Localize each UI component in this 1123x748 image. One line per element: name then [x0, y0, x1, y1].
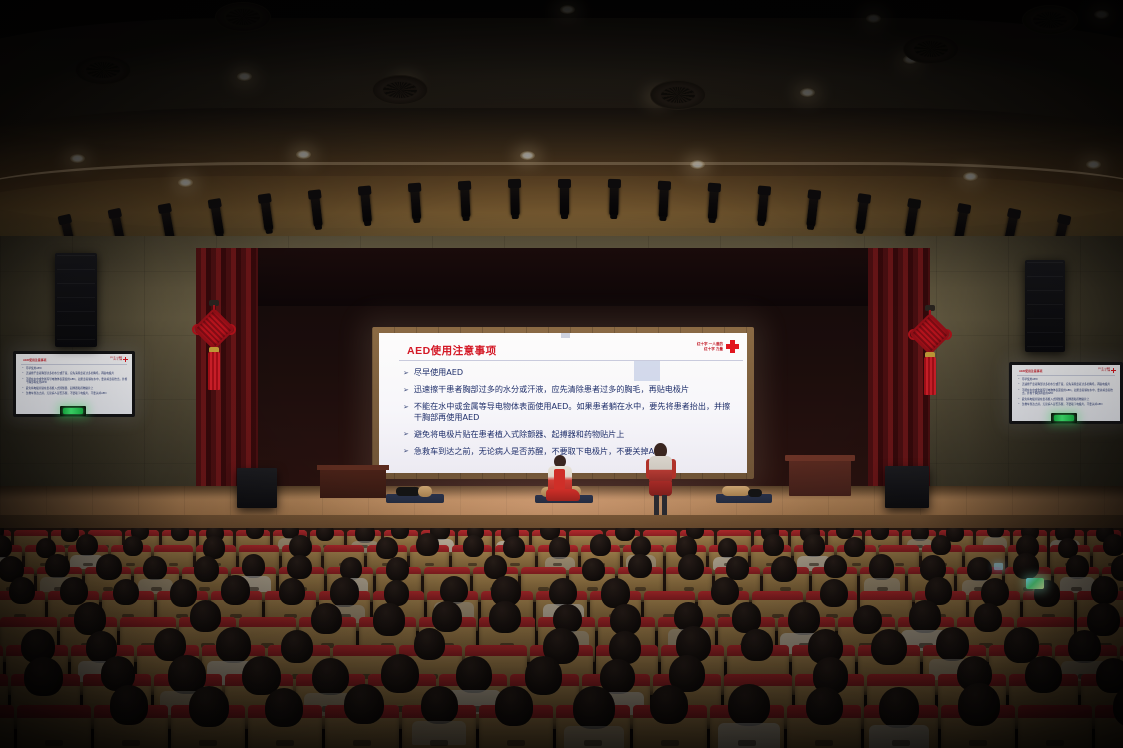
audience-member-head [711, 577, 739, 606]
audience-member-head [824, 555, 847, 578]
audience-seat [248, 705, 322, 748]
audience-member-head [344, 684, 384, 724]
monitor-bullet-marker-icon: ➢ [22, 387, 24, 390]
audience-member-head [355, 528, 374, 543]
knot-tassel [208, 352, 220, 390]
audience-member-head [489, 601, 520, 633]
audience-seat [710, 705, 784, 748]
right-monitor-rule [1017, 375, 1115, 376]
presenter-standing-skirt [649, 481, 672, 496]
audience-seat [787, 705, 861, 748]
monitor-bullet-marker-icon: ➢ [1018, 383, 1020, 386]
audience-member-head [1096, 658, 1123, 693]
left-monitor-logo: 红十字 一人道的 红十字 力量 [110, 357, 128, 362]
cpr-manikin-left-body [396, 487, 420, 496]
monitor-bullet-1: ➢尽早使用AED [22, 367, 128, 370]
auditorium-photo: AED使用注意事项 红十字 一人道的 红十字 力量 ➢尽早使用AED➢迅速擦干患… [0, 0, 1123, 748]
audience-member-head [820, 579, 847, 607]
audience-member-head [340, 557, 363, 580]
slide-notch [561, 333, 570, 338]
audience-member-head [788, 602, 821, 635]
monitor-bullet-marker-icon: ➢ [22, 372, 24, 375]
audience-member-head [1025, 656, 1062, 693]
bullet-marker-icon: ➢ [403, 446, 409, 457]
slide-bullet-1: ➢尽早使用AED [403, 367, 735, 379]
audience-member-head [590, 534, 612, 556]
audience-member-head [110, 685, 149, 725]
audience-member-head [628, 554, 652, 578]
audience-phone-screen [1026, 578, 1044, 589]
audience-member-head [936, 627, 970, 661]
audience-seat [0, 705, 14, 748]
monitor-bullet-text: 迅速擦干患者胸部过多的水分或汗液，应先清除患者过多的胸毛，再贴电极片 [26, 372, 114, 375]
audience-member-head [373, 603, 405, 635]
left-monitor-logo-text: 红十字 一人道的 红十字 力量 [110, 358, 122, 362]
exit-sign-left [60, 406, 86, 416]
stage-light-fixture-12 [609, 182, 619, 216]
audience-member-head [549, 537, 570, 558]
audience-member-head [463, 535, 484, 557]
left-monitor-cross-icon [123, 357, 128, 362]
exit-sign-icon [63, 408, 83, 414]
audience-member-head [582, 558, 605, 581]
audience-seat [94, 705, 168, 748]
slide-content: AED使用注意事项 红十字 一人道的 红十字 力量 ➢尽早使用AED➢迅速擦干患… [379, 333, 747, 473]
audience-seat [171, 705, 245, 748]
monitor-bullet-marker-icon: ➢ [1018, 389, 1020, 396]
audience-member-head [311, 603, 341, 634]
audience-seat [556, 705, 630, 748]
chinese-knot-left [192, 300, 236, 392]
monitor-bullet-marker-icon: ➢ [22, 378, 24, 385]
audience-member-head [911, 528, 928, 541]
subwoofer-right [885, 466, 929, 508]
audience-seat [1018, 705, 1092, 748]
audience-member-head [1103, 534, 1123, 557]
audience-seat [17, 705, 91, 748]
audience-member-head [495, 686, 534, 726]
audience-seating [0, 528, 1123, 748]
audience-member-head [391, 528, 408, 539]
right-logo-line-2: 红十字 力量 [1098, 371, 1110, 373]
red-cross-icon [726, 340, 739, 353]
audience-member-head [803, 534, 826, 557]
audience-member-head [45, 554, 69, 579]
line-array-speaker-right [1025, 260, 1065, 352]
monitor-bullet-5: ➢急救车到达之前，无论病人是否苏醒，不要取下电极片，不要关掉AED [1018, 403, 1116, 406]
audience-member-head [242, 554, 265, 578]
audience-member-head [171, 528, 190, 541]
slide-title-rule [399, 360, 743, 361]
logo-text: 红十字 一人道的 红十字 力量 [697, 342, 723, 351]
bullet-marker-icon: ➢ [403, 368, 409, 379]
audience-member-head [763, 534, 784, 555]
audience-member-head [281, 630, 313, 663]
left-monitor-bullets: ➢尽早使用AED➢迅速擦干患者胸部过多的水分或汗液，应先清除患者过多的胸毛，再贴… [22, 367, 128, 397]
audience-member-head [216, 627, 252, 664]
audience-member-head [909, 600, 941, 632]
audience-member-head [76, 534, 98, 557]
left-monitor-title: AED使用注意事项 [23, 358, 46, 362]
audience-member-head [246, 528, 264, 539]
monitor-bullet-2: ➢迅速擦干患者胸部过多的水分或汗液，应先清除患者过多的胸毛，再贴电极片 [22, 372, 128, 375]
monitor-bullet-text: 尽早使用AED [1022, 378, 1038, 381]
right-monitor-cross-icon [1111, 368, 1116, 373]
bullet-marker-icon: ➢ [403, 385, 409, 396]
exit-sign-icon [1054, 415, 1074, 421]
monitor-bullet-4: ➢避免将电极片贴在患者植入式除颤器、起搏器和药物贴片上 [1018, 398, 1116, 401]
subwoofer-left [237, 468, 277, 508]
audience-member-head [958, 683, 1000, 726]
audience-row-8 [0, 705, 1123, 748]
audience-member-head [732, 602, 762, 632]
audience-member-head [96, 554, 121, 580]
monitor-bullet-text: 急救车到达之前，无论病人是否苏醒，不要取下电极片，不要关掉AED [1022, 403, 1103, 406]
audience-member-head [9, 577, 35, 604]
monitor-bullet-text: 不能在水中或金属等导电物体表面使用AED。如果患者躺在水中，要先将患者抬出，并擦… [26, 378, 128, 385]
monitor-bullet-3: ➢不能在水中或金属等导电物体表面使用AED。如果患者躺在水中，要先将患者抬出，并… [1018, 389, 1116, 396]
left-logo-line-2: 红十字 力量 [110, 360, 122, 362]
monitor-bullet-text: 避免将电极片贴在患者植入式除颤器、起搏器和药物贴片上 [1022, 398, 1089, 401]
audience-member-head [386, 557, 410, 581]
monitor-bullet-text: 迅速擦干患者胸部过多的水分或汗液，应先清除患者过多的胸毛，再贴电极片 [1022, 383, 1110, 386]
audience-member-head [728, 684, 769, 726]
monitor-bullet-marker-icon: ➢ [1018, 403, 1020, 406]
audience-member-head [844, 537, 864, 558]
audience-seat [941, 705, 1015, 748]
stage-light-fixture-8 [410, 186, 421, 221]
monitor-bullet-marker-icon: ➢ [1018, 398, 1020, 401]
presenter-standing-torso [649, 456, 672, 483]
audience-member-head [123, 536, 143, 556]
right-monitor-logo-text: 红十字 一人道的 红十字 力量 [1098, 369, 1110, 373]
slide-bullet-4: ➢避免将电极片贴在患者植入式除颤器、起搏器和药物贴片上 [403, 429, 735, 441]
presenter-kneeling [546, 455, 580, 503]
slide-bullet-3: ➢不能在水中或金属等导电物体表面使用AED。如果患者躺在水中，要先将患者抬出，并… [403, 401, 735, 423]
stage-light-fixture-13 [658, 184, 669, 218]
stage-light-fixture-9 [460, 184, 471, 218]
audience-member-head [440, 576, 468, 605]
audience-member-head [170, 579, 197, 606]
right-monitor-title: AED使用注意事项 [1019, 369, 1042, 373]
audience-seat [864, 705, 938, 748]
stage-light-fixture-7 [360, 188, 372, 223]
audience-member-head [189, 686, 230, 727]
stage-light-fixture-10 [510, 182, 520, 216]
audience-member-head [414, 628, 445, 660]
audience-member-head [967, 557, 991, 582]
audience-member-head [869, 554, 894, 579]
audience-seat [402, 705, 476, 748]
presenter-kneeling-legs [546, 489, 580, 501]
monitor-bullet-text: 避免将电极片贴在患者植入式除颤器、起搏器和药物贴片上 [26, 387, 93, 390]
monitor-bullet-text: 不能在水中或金属等导电物体表面使用AED。如果患者躺在水中，要先将患者抬出，并擦… [1022, 389, 1116, 396]
monitor-bullet-marker-icon: ➢ [1018, 378, 1020, 381]
audience-member-head [1013, 553, 1038, 579]
audience-seat [479, 705, 553, 748]
knot-body [909, 313, 951, 355]
cpr-manikin-right-body [722, 486, 750, 496]
audience-member-head [549, 578, 576, 606]
audience-member-head [421, 686, 458, 724]
red-cross-logo: 红十字 一人道的 红十字 力量 [697, 340, 739, 353]
audience-member-head [573, 686, 615, 729]
audience-member-head [741, 629, 772, 661]
audience-member-head [1068, 630, 1101, 663]
audience-member-head [221, 575, 250, 605]
monitor-bullet-text: 尽早使用AED [26, 367, 42, 370]
audience-member-head [74, 602, 106, 634]
audience-member-head [726, 556, 749, 580]
audience-seat [1095, 705, 1123, 748]
audience-member-head [265, 688, 303, 727]
audience-member-head [1066, 555, 1090, 579]
bullet-marker-icon: ➢ [403, 429, 409, 440]
audience-member-head [312, 658, 349, 695]
audience-member-head [525, 656, 562, 694]
audience-member-head [289, 535, 311, 558]
monitor-bullet-2: ➢迅速擦干患者胸部过多的水分或汗液，应先清除患者过多的胸毛，再贴电极片 [1018, 383, 1116, 386]
slide-bullet-text: 尽早使用AED [414, 367, 463, 378]
audience-member-head [113, 579, 139, 605]
audience-member-head [190, 600, 221, 632]
slide-bullet-text: 迅速擦干患者胸部过多的水分或汗液，应先清除患者过多的胸毛，再贴电极片 [414, 384, 689, 395]
slide-bullet-text: 不能在水中或金属等导电物体表面使用AED。如果患者躺在水中，要先将患者抬出，并擦… [414, 401, 735, 423]
monitor-bullet-4: ➢避免将电极片贴在患者植入式除颤器、起搏器和药物贴片上 [22, 387, 128, 390]
audience-member-head [974, 603, 1002, 632]
monitor-bullet-5: ➢急救车到达之前，无论病人是否苏醒，不要取下电极片，不要关掉AED [22, 392, 128, 395]
audience-member-head [806, 687, 843, 725]
audience-member-head [931, 535, 951, 555]
audience-member-head [330, 577, 359, 606]
audience-member-head [24, 657, 62, 696]
slide-bullet-list: ➢尽早使用AED➢迅速擦干患者胸部过多的水分或汗液，应先清除患者过多的胸毛，再贴… [403, 367, 735, 463]
line-array-speaker-left [55, 253, 97, 347]
audience-member-head [771, 556, 796, 582]
audience-member-head [143, 556, 167, 580]
audience-seat [633, 705, 707, 748]
exit-sign-right [1051, 413, 1077, 423]
right-monitor-bullets: ➢尽早使用AED➢迅速擦干患者胸部过多的水分或汗液，应先清除患者过多的胸毛，再贴… [1018, 378, 1116, 408]
audience-member-head [279, 578, 305, 605]
monitor-bullet-marker-icon: ➢ [22, 392, 24, 395]
stage-podium [789, 459, 851, 496]
chinese-knot-right [908, 305, 952, 397]
audience-member-head [871, 629, 907, 666]
audience-member-head [1091, 576, 1118, 604]
slide-glare [634, 361, 660, 381]
monitor-bullet-text: 急救车到达之前，无论病人是否苏醒，不要取下电极片，不要关掉AED [26, 392, 107, 395]
cpr-manikin-right-head [748, 489, 762, 497]
knot-body [193, 308, 235, 350]
audience-member-head [879, 687, 920, 728]
presenter-kneeling-vest [554, 469, 565, 490]
audience-member-head [871, 528, 890, 540]
slide-bullet-text: 避免将电极片贴在患者植入式除颤器、起搏器和药物贴片上 [414, 429, 624, 440]
audience-member-head [381, 654, 419, 693]
audience-member-head [376, 537, 398, 559]
audience-member-head [853, 605, 882, 635]
audience-member-head [1111, 555, 1123, 580]
audience-member-head [456, 656, 492, 692]
audience-member-head [503, 536, 525, 559]
curtain-valance [196, 248, 930, 306]
audience-member-head [316, 528, 334, 541]
cpr-manikin-left-head [418, 486, 432, 497]
knot-tassel [924, 357, 936, 395]
audience-member-head [678, 554, 704, 581]
stage-light-fixture-11 [560, 182, 569, 216]
left-monitor-slide: AED使用注意事项 红十字 一人道的 红十字 力量 ➢尽早使用AED➢迅速擦干患… [16, 354, 132, 414]
audience-member-head [718, 538, 738, 558]
slide-bullet-text: 急救车到达之前，无论病人是否苏醒，不要取下电极片，不要关掉AED [414, 446, 666, 457]
audience-member-head [432, 601, 462, 631]
audience-member-head [416, 533, 439, 556]
audience-member-head [650, 685, 688, 724]
audience-member-head [987, 528, 1004, 538]
right-monitor-logo: 红十字 一人道的 红十字 力量 [1098, 368, 1116, 373]
monitor-bullet-3: ➢不能在水中或金属等导电物体表面使用AED。如果患者躺在水中，要先将患者抬出，并… [22, 378, 128, 385]
monitor-bullet-1: ➢尽早使用AED [1018, 378, 1116, 381]
bullet-marker-icon: ➢ [403, 402, 409, 413]
audience-member-head [60, 577, 87, 605]
slide-bullet-2: ➢迅速擦干患者胸部过多的水分或汗液，应先清除患者过多的胸毛，再贴电极片 [403, 384, 735, 396]
audience-member-head [194, 556, 219, 581]
logo-line-2: 红十字 力量 [704, 347, 723, 352]
audience-member-head [287, 555, 311, 580]
slide-title: AED使用注意事项 [407, 343, 497, 358]
audience-seat [325, 705, 399, 748]
audience-member-head [615, 528, 634, 541]
audience-phone-screen-secondary [994, 563, 1003, 570]
left-monitor-rule [21, 364, 127, 365]
monitor-bullet-marker-icon: ➢ [22, 367, 24, 370]
stage-side-table [320, 468, 386, 498]
